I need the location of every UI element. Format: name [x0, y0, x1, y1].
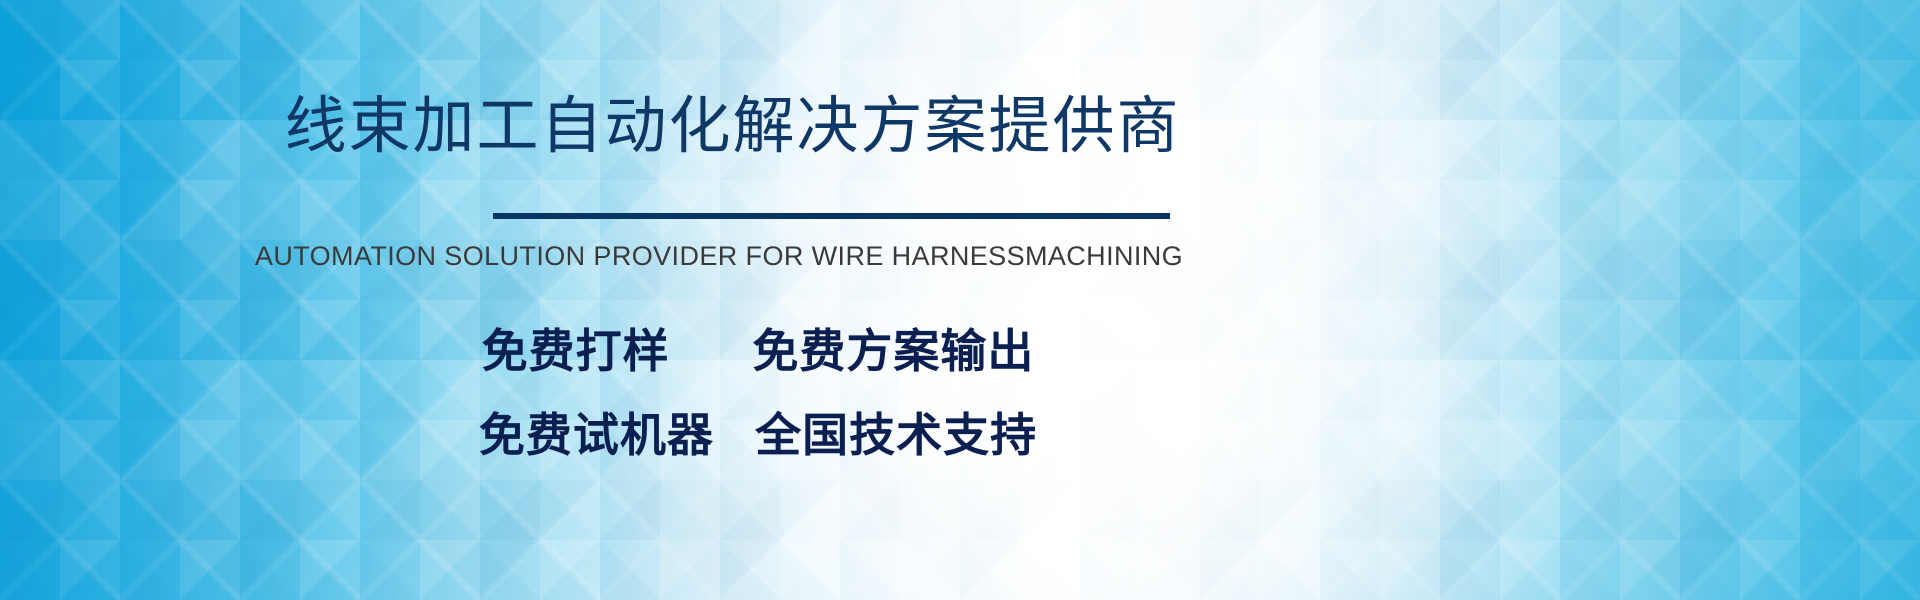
headline-divider [493, 213, 1170, 219]
banner-tagline-row-1: 免费打样 免费方案输出 [0, 328, 1516, 374]
banner-headline: 线束加工自动化解决方案提供商 [0, 96, 1465, 158]
hero-banner: 线束加工自动化解决方案提供商 AUTOMATION SOLUTION PROVI… [0, 0, 1920, 600]
banner-tagline-row-2: 免费试机器 全国技术支持 [0, 412, 1516, 458]
banner-subtitle-english: AUTOMATION SOLUTION PROVIDER FOR WIRE HA… [0, 243, 1438, 270]
banner-content: 线束加工自动化解决方案提供商 AUTOMATION SOLUTION PROVI… [0, 0, 1920, 600]
